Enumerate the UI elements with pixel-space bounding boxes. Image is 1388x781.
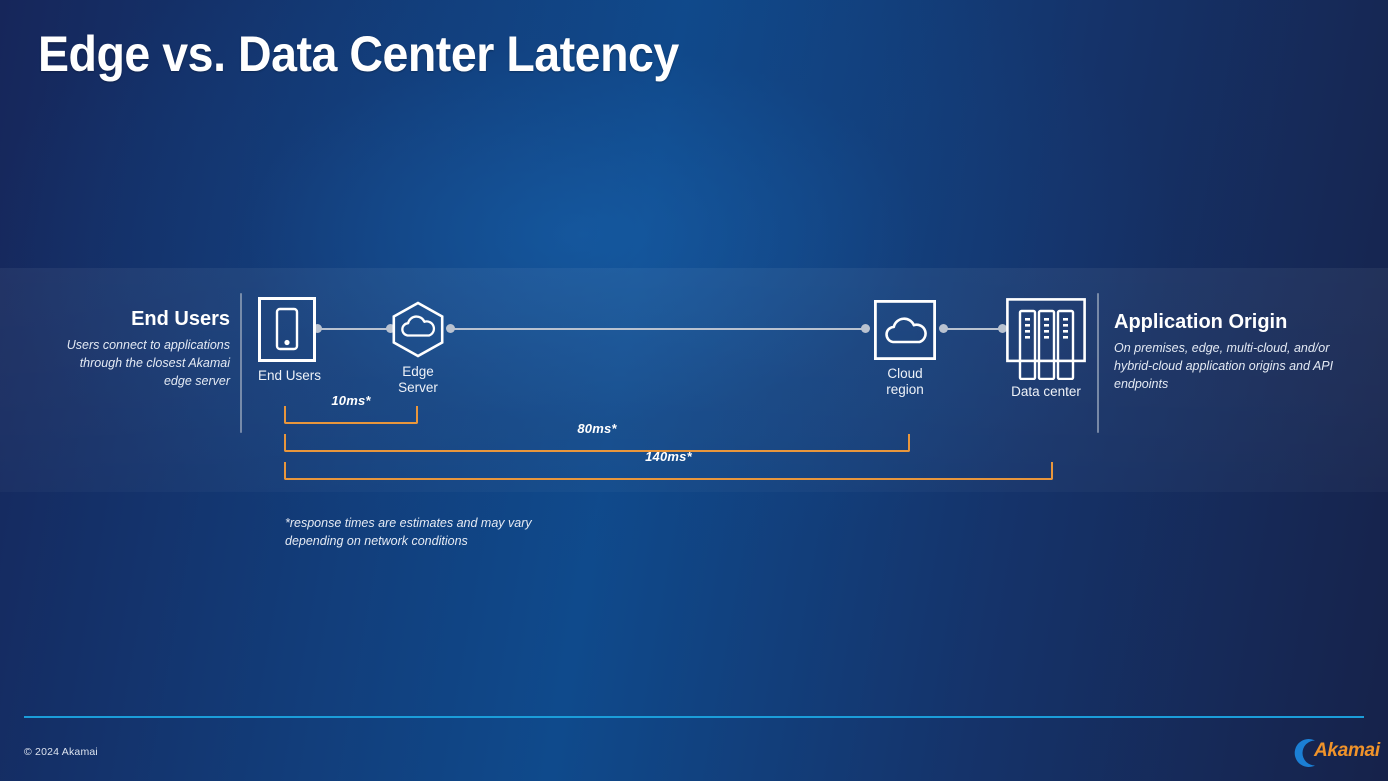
node-edge-server[interactable]: Edge Server — [389, 301, 447, 397]
cloud-icon — [874, 300, 936, 360]
node-end-users-caption: End Users — [258, 368, 316, 384]
bracket-cloud-latency: 80ms* — [284, 424, 910, 452]
connector-cloud-datacenter — [939, 324, 1007, 334]
application-origin-side-label: Application Origin On premises, edge, mu… — [1114, 310, 1364, 393]
akamai-logo: Akamai — [1288, 735, 1384, 769]
right-divider — [1097, 293, 1099, 433]
mobile-phone-icon — [258, 297, 316, 362]
connector-endusers-edge — [313, 324, 395, 334]
hexagon-cloud-icon — [389, 301, 447, 358]
node-edge-server-caption-line1: Edge — [389, 364, 447, 380]
footnote-line-2: depending on network conditions — [285, 532, 532, 550]
page-title: Edge vs. Data Center Latency — [38, 25, 679, 83]
footnote: *response times are estimates and may va… — [285, 514, 532, 550]
bracket-edge-latency: 10ms* — [284, 396, 418, 424]
end-users-heading: End Users — [60, 307, 230, 331]
application-origin-heading: Application Origin — [1114, 310, 1364, 334]
footnote-line-1: *response times are estimates and may va… — [285, 514, 532, 532]
node-end-users[interactable]: End Users — [258, 297, 316, 384]
node-cloud-region-caption-line2: region — [874, 382, 936, 398]
application-origin-description: On premises, edge, multi-cloud, and/or h… — [1114, 340, 1364, 393]
end-users-side-label: End Users Users connect to applications … — [60, 307, 230, 390]
left-divider — [240, 293, 242, 433]
node-data-center[interactable]: Data center — [1006, 298, 1086, 400]
akamai-wordmark: Akamai — [1314, 740, 1380, 762]
footer-rule — [24, 716, 1364, 718]
end-users-description: Users connect to applications through th… — [60, 337, 230, 390]
server-racks-icon — [1006, 298, 1086, 380]
copyright-text: © 2024 Akamai — [24, 746, 98, 758]
node-cloud-region[interactable]: Cloud region — [874, 300, 936, 399]
node-cloud-region-caption-line1: Cloud — [874, 366, 936, 382]
connector-edge-cloud — [446, 324, 870, 334]
node-data-center-caption: Data center — [1006, 384, 1086, 400]
bracket-data-center-latency: 140ms* — [284, 452, 1053, 480]
